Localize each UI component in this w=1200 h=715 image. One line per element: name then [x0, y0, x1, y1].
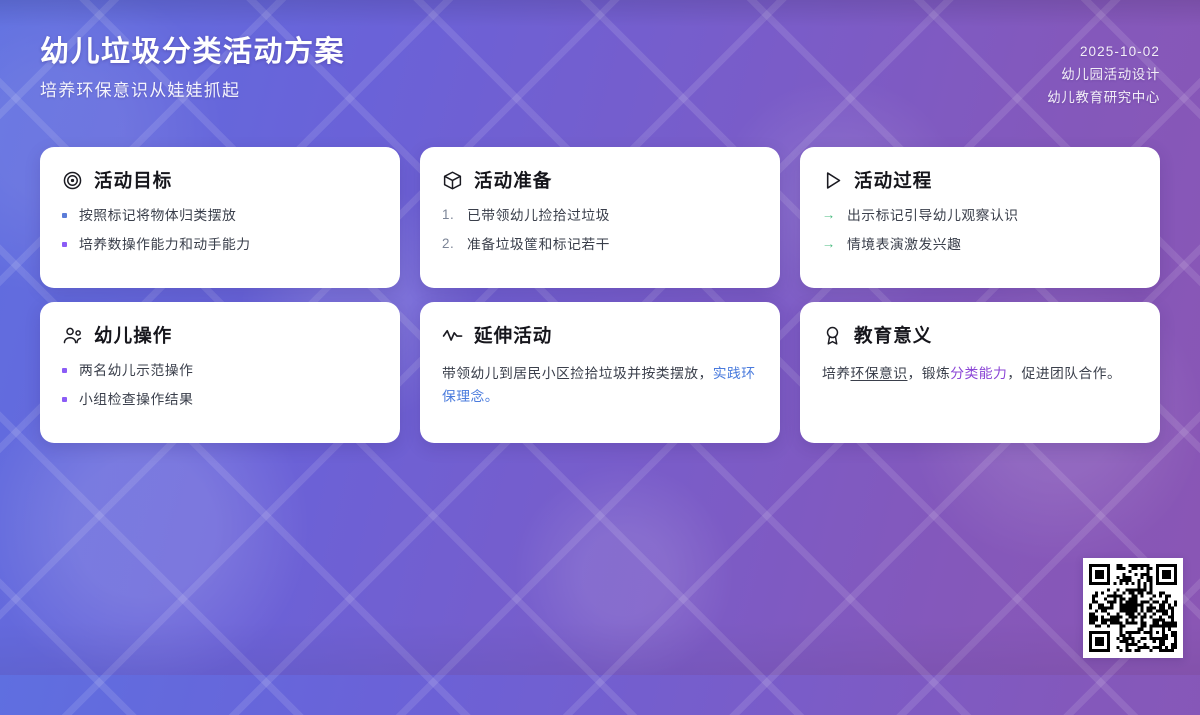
card-users: 幼儿操作两名幼儿示范操作小组检查操作结果 [40, 302, 400, 443]
page-title: 幼儿垃圾分类活动方案 [40, 34, 1160, 71]
list-item-label: 培养数操作能力和动手能力 [79, 236, 378, 253]
card-header: 幼儿操作 [62, 322, 378, 348]
paragraph-text: 培养 [822, 366, 851, 381]
paragraph-text: ，促进团队合作。 [1007, 366, 1121, 381]
bullet-dot-icon [62, 397, 67, 402]
card-paragraph: 带领幼儿到居民小区捡拾垃圾并按类摆放，实践环保理念。 [442, 362, 758, 408]
card-header: 教育意义 [822, 322, 1138, 348]
card-header: 延伸活动 [442, 322, 758, 348]
bullet-dot-icon [62, 213, 67, 218]
card-paragraph: 培养环保意识，锻炼分类能力，促进团队合作。 [822, 362, 1138, 385]
list-item-label: 两名幼儿示范操作 [79, 362, 378, 379]
highlight-underline-text: 环保意识 [851, 366, 908, 381]
target-icon [62, 170, 83, 191]
paragraph-text: 带领幼儿到居民小区捡拾垃圾并按类摆放， [442, 366, 713, 381]
list-item-label: 出示标记引导幼儿观察认识 [847, 207, 1138, 224]
list-item: 2.准备垃圾筐和标记若干 [442, 236, 758, 253]
card-award: 教育意义培养环保意识，锻炼分类能力，促进团队合作。 [800, 302, 1160, 443]
list-item: 两名幼儿示范操作 [62, 362, 378, 379]
users-icon [62, 325, 83, 346]
card-package: 活动准备1.已带领幼儿捡拾过垃圾2.准备垃圾筐和标记若干 [420, 147, 780, 288]
card-item-list: 按照标记将物体归类摆放培养数操作能力和动手能力 [62, 207, 378, 253]
card-target: 活动目标按照标记将物体归类摆放培养数操作能力和动手能力 [40, 147, 400, 288]
card-title: 幼儿操作 [94, 322, 172, 348]
card-title: 活动目标 [94, 167, 172, 193]
highlight-accent-text: 分类能力 [950, 366, 1007, 381]
list-number: 2. [442, 236, 457, 253]
play-icon [822, 170, 843, 191]
header-meta: 2025-10-02 幼儿园活动设计 幼儿教育研究中心 [1047, 40, 1160, 110]
card-play: 活动过程→出示标记引导幼儿观察认识→情境表演激发兴趣 [800, 147, 1160, 288]
page-header: 幼儿垃圾分类活动方案 培养环保意识从娃娃抓起 2025-10-02 幼儿园活动设… [40, 34, 1160, 120]
meta-org: 幼儿园活动设计 [1047, 63, 1160, 86]
card-grid: 活动目标按照标记将物体归类摆放培养数操作能力和动手能力活动准备1.已带领幼儿捡拾… [40, 147, 1160, 443]
bullet-dot-icon [62, 242, 67, 247]
arrow-right-icon: → [822, 236, 837, 253]
card-title: 延伸活动 [474, 322, 552, 348]
card-title: 活动过程 [854, 167, 932, 193]
card-item-list: 1.已带领幼儿捡拾过垃圾2.准备垃圾筐和标记若干 [442, 207, 758, 253]
package-icon [442, 170, 463, 191]
list-item: 培养数操作能力和动手能力 [62, 236, 378, 253]
card-title: 教育意义 [854, 322, 932, 348]
page-subtitle: 培养环保意识从娃娃抓起 [40, 76, 1160, 101]
card-item-list: →出示标记引导幼儿观察认识→情境表演激发兴趣 [822, 207, 1138, 253]
award-icon [822, 325, 843, 346]
card-activity: 延伸活动带领幼儿到居民小区捡拾垃圾并按类摆放，实践环保理念。 [420, 302, 780, 443]
card-title: 活动准备 [474, 167, 552, 193]
list-item: 1.已带领幼儿捡拾过垃圾 [442, 207, 758, 224]
list-item-label: 已带领幼儿捡拾过垃圾 [467, 207, 758, 224]
paragraph-text: ，锻炼 [908, 366, 951, 381]
bullet-dot-icon [62, 368, 67, 373]
list-item: 按照标记将物体归类摆放 [62, 207, 378, 224]
card-header: 活动目标 [62, 167, 378, 193]
qr-code[interactable] [1083, 558, 1183, 658]
meta-department: 幼儿教育研究中心 [1047, 86, 1160, 109]
arrow-right-icon: → [822, 207, 837, 224]
qr-code-image [1089, 564, 1177, 652]
list-item: →出示标记引导幼儿观察认识 [822, 207, 1138, 224]
slide-canvas: 幼儿垃圾分类活动方案 培养环保意识从娃娃抓起 2025-10-02 幼儿园活动设… [0, 0, 1200, 675]
list-item-label: 准备垃圾筐和标记若干 [467, 236, 758, 253]
card-header: 活动准备 [442, 167, 758, 193]
list-number: 1. [442, 207, 457, 224]
list-item: →情境表演激发兴趣 [822, 236, 1138, 253]
card-header: 活动过程 [822, 167, 1138, 193]
list-item-label: 按照标记将物体归类摆放 [79, 207, 378, 224]
list-item: 小组检查操作结果 [62, 391, 378, 408]
meta-date: 2025-10-02 [1047, 40, 1160, 63]
list-item-label: 情境表演激发兴趣 [847, 236, 1138, 253]
card-item-list: 两名幼儿示范操作小组检查操作结果 [62, 362, 378, 408]
list-item-label: 小组检查操作结果 [79, 391, 378, 408]
activity-icon [442, 325, 463, 346]
